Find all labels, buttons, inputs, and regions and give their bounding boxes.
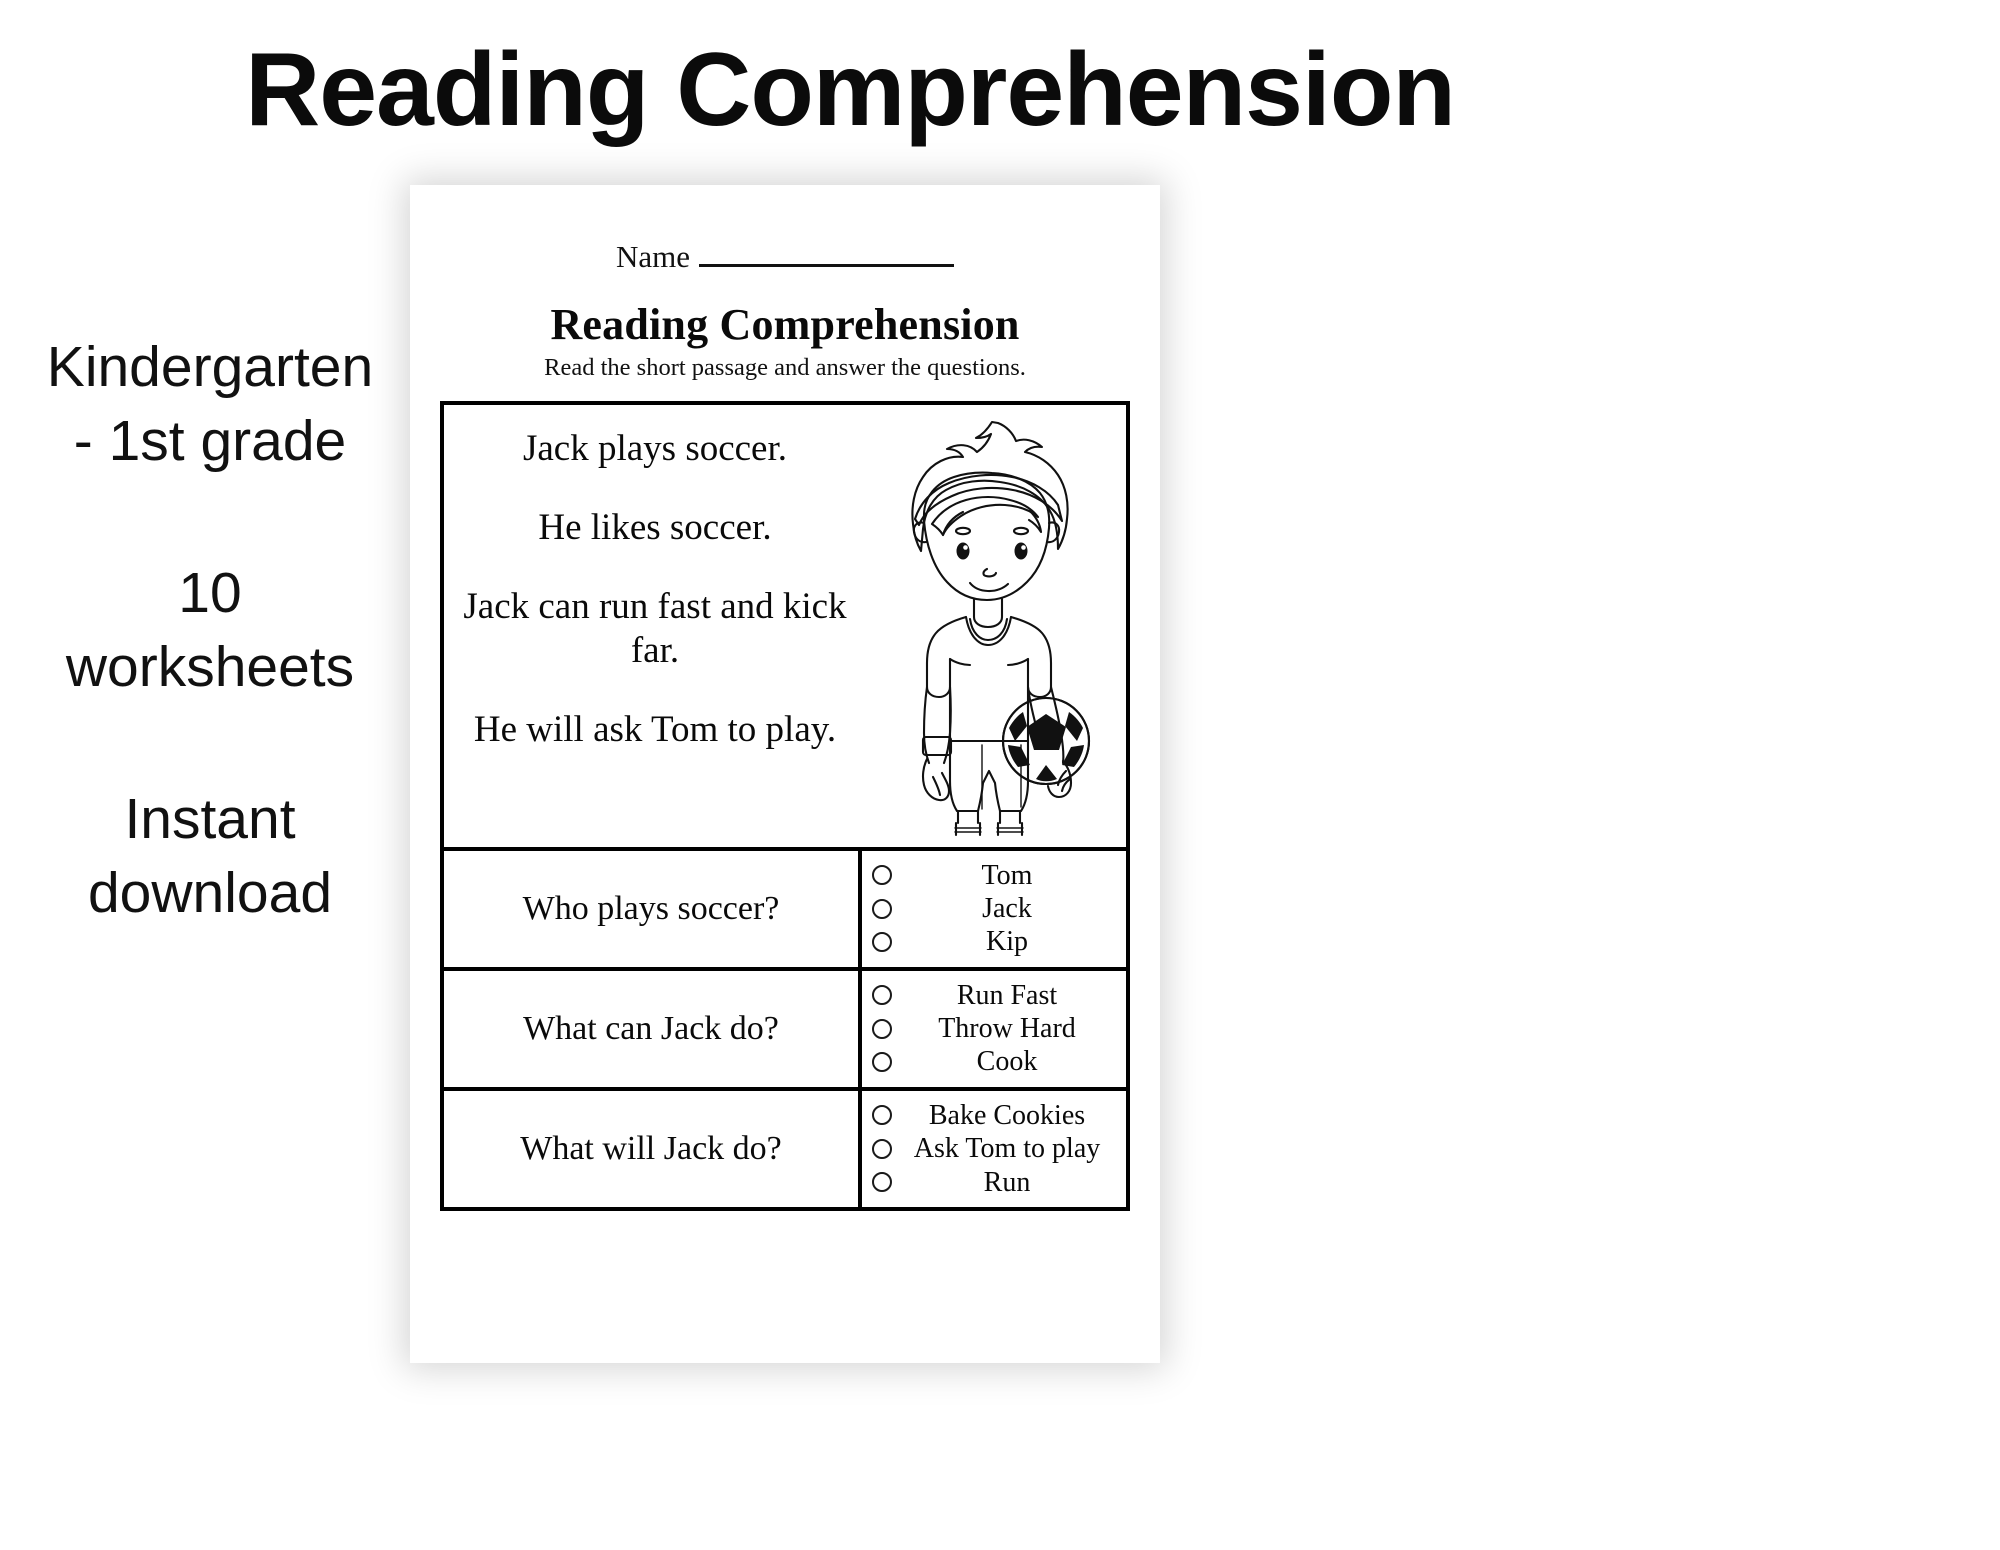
option-label: Run (898, 1167, 1116, 1198)
worksheet-page: Name Reading Comprehension Read the shor… (410, 185, 1160, 1363)
promo-delivery: Instant download (0, 782, 420, 930)
promo-spacer-2 (0, 704, 420, 782)
option-label: Bake Cookies (898, 1100, 1116, 1131)
page-title: Reading Comprehension (0, 36, 1700, 145)
option-label: Jack (898, 893, 1116, 924)
option-row[interactable]: Ask Tom to play (872, 1133, 1116, 1164)
answer-options: Tom Jack Kip (862, 851, 1126, 967)
option-row[interactable]: Jack (872, 893, 1116, 924)
option-row[interactable]: Kip (872, 926, 1116, 957)
answer-options: Bake Cookies Ask Tom to play Run (862, 1091, 1126, 1207)
question-row: What will Jack do? Bake Cookies Ask Tom … (444, 1087, 1126, 1207)
answer-options: Run Fast Throw Hard Cook (862, 971, 1126, 1087)
option-row[interactable]: Throw Hard (872, 1013, 1116, 1044)
passage-line: Jack plays soccer. (454, 427, 856, 470)
option-bubble[interactable] (872, 1019, 892, 1039)
passage-line: Jack can run fast and kick far. (454, 585, 856, 672)
option-bubble[interactable] (872, 899, 892, 919)
question-prompt: What will Jack do? (444, 1091, 862, 1207)
promo-spacer-1 (0, 478, 420, 556)
option-label: Tom (898, 860, 1116, 891)
option-row[interactable]: Bake Cookies (872, 1100, 1116, 1131)
option-label: Kip (898, 926, 1116, 957)
option-bubble[interactable] (872, 932, 892, 952)
question-prompt: What can Jack do? (444, 971, 862, 1087)
question-row: What can Jack do? Run Fast Throw Hard Co… (444, 967, 1126, 1087)
worksheet-content: Name Reading Comprehension Read the shor… (410, 185, 1160, 1363)
question-prompt: Who plays soccer? (444, 851, 862, 967)
worksheet-subtitle: Read the short passage and answer the qu… (440, 353, 1130, 382)
promo-worksheet-count: 10 worksheets (0, 556, 420, 704)
option-bubble[interactable] (872, 865, 892, 885)
passage-text: Jack plays soccer. He likes soccer. Jack… (444, 405, 864, 847)
option-row[interactable]: Run Fast (872, 980, 1116, 1011)
option-row[interactable]: Cook (872, 1046, 1116, 1077)
boy-with-soccer-ball-icon (870, 411, 1120, 841)
worksheet-title: Reading Comprehension (440, 300, 1130, 349)
question-row: Who plays soccer? Tom Jack Kip (444, 847, 1126, 967)
promo-grade-range: Kindergarten - 1st grade (0, 330, 420, 478)
soccer-boy-illustration (864, 405, 1126, 847)
passage-row: Jack plays soccer. He likes soccer. Jack… (444, 405, 1126, 847)
option-label: Run Fast (898, 980, 1116, 1011)
name-row: Name (440, 241, 1130, 272)
option-bubble[interactable] (872, 1172, 892, 1192)
option-bubble[interactable] (872, 1105, 892, 1125)
passage-line: He will ask Tom to play. (454, 708, 856, 751)
name-label: Name (616, 241, 699, 272)
option-bubble[interactable] (872, 1052, 892, 1072)
option-bubble[interactable] (872, 1139, 892, 1159)
option-label: Cook (898, 1046, 1116, 1077)
promo-column: Kindergarten - 1st grade 10 worksheets I… (0, 330, 420, 931)
option-row[interactable]: Run (872, 1167, 1116, 1198)
option-label: Ask Tom to play (898, 1133, 1116, 1164)
option-bubble[interactable] (872, 985, 892, 1005)
passage-line: He likes soccer. (454, 506, 856, 549)
option-label: Throw Hard (898, 1013, 1116, 1044)
option-row[interactable]: Tom (872, 860, 1116, 891)
name-input-line[interactable] (699, 264, 954, 267)
worksheet-frame: Jack plays soccer. He likes soccer. Jack… (440, 401, 1130, 1211)
